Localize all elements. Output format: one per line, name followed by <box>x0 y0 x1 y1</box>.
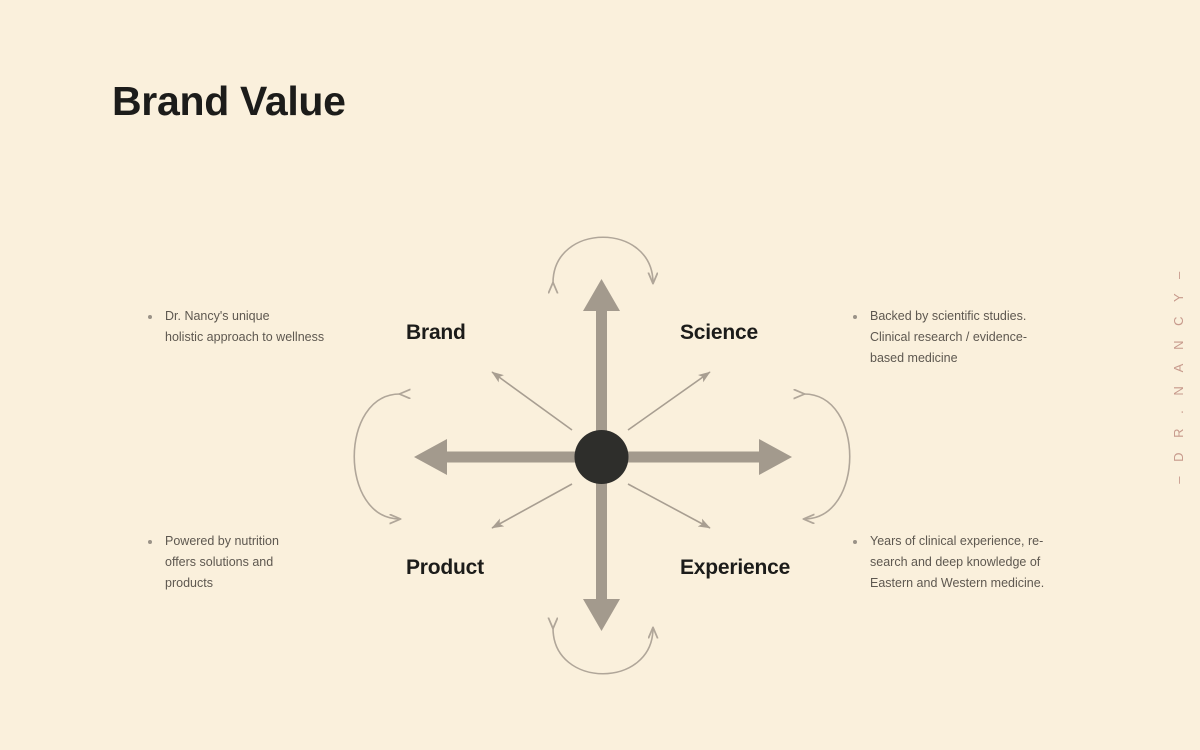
note-science-text: Backed by scientific studies. Clinical r… <box>870 306 1027 369</box>
note-experience: Years of clinical experience, re- search… <box>853 531 1068 594</box>
note-line: Backed by scientific studies. <box>870 306 1027 327</box>
bullet-dot-icon <box>148 540 152 544</box>
note-line: Powered by nutrition <box>165 531 279 552</box>
bullet-dot-icon <box>853 540 857 544</box>
note-product-text: Powered by nutrition offers solutions an… <box>165 531 279 594</box>
bullet-dot-icon <box>853 315 857 319</box>
note-line: Eastern and Western medicine. <box>870 573 1044 594</box>
note-experience-text: Years of clinical experience, re- search… <box>870 531 1044 594</box>
center-hub <box>575 430 629 484</box>
quadrant-label-product: Product <box>406 556 484 580</box>
note-line: Dr. Nancy's unique <box>165 306 324 327</box>
note-line: holistic approach to wellness <box>165 327 324 348</box>
note-brand-text: Dr. Nancy's unique holistic approach to … <box>165 306 324 348</box>
note-line: Years of clinical experience, re- <box>870 531 1044 552</box>
note-brand: Dr. Nancy's unique holistic approach to … <box>148 306 363 348</box>
quadrant-label-science: Science <box>680 321 758 345</box>
note-line: search and deep knowledge of <box>870 552 1044 573</box>
side-wordmark: – D R . N A N C Y – <box>1171 266 1186 483</box>
note-line: Clinical research / evidence- <box>870 327 1027 348</box>
note-line: based medicine <box>870 348 1027 369</box>
slide-canvas: Brand Value <box>0 0 1200 750</box>
quadrant-label-brand: Brand <box>406 321 466 345</box>
note-line: offers solutions and <box>165 552 279 573</box>
note-line: products <box>165 573 279 594</box>
note-science: Backed by scientific studies. Clinical r… <box>853 306 1068 369</box>
bullet-dot-icon <box>148 315 152 319</box>
quadrant-label-experience: Experience <box>680 556 790 580</box>
note-product: Powered by nutrition offers solutions an… <box>148 531 363 594</box>
brand-value-diagram <box>0 0 1200 750</box>
